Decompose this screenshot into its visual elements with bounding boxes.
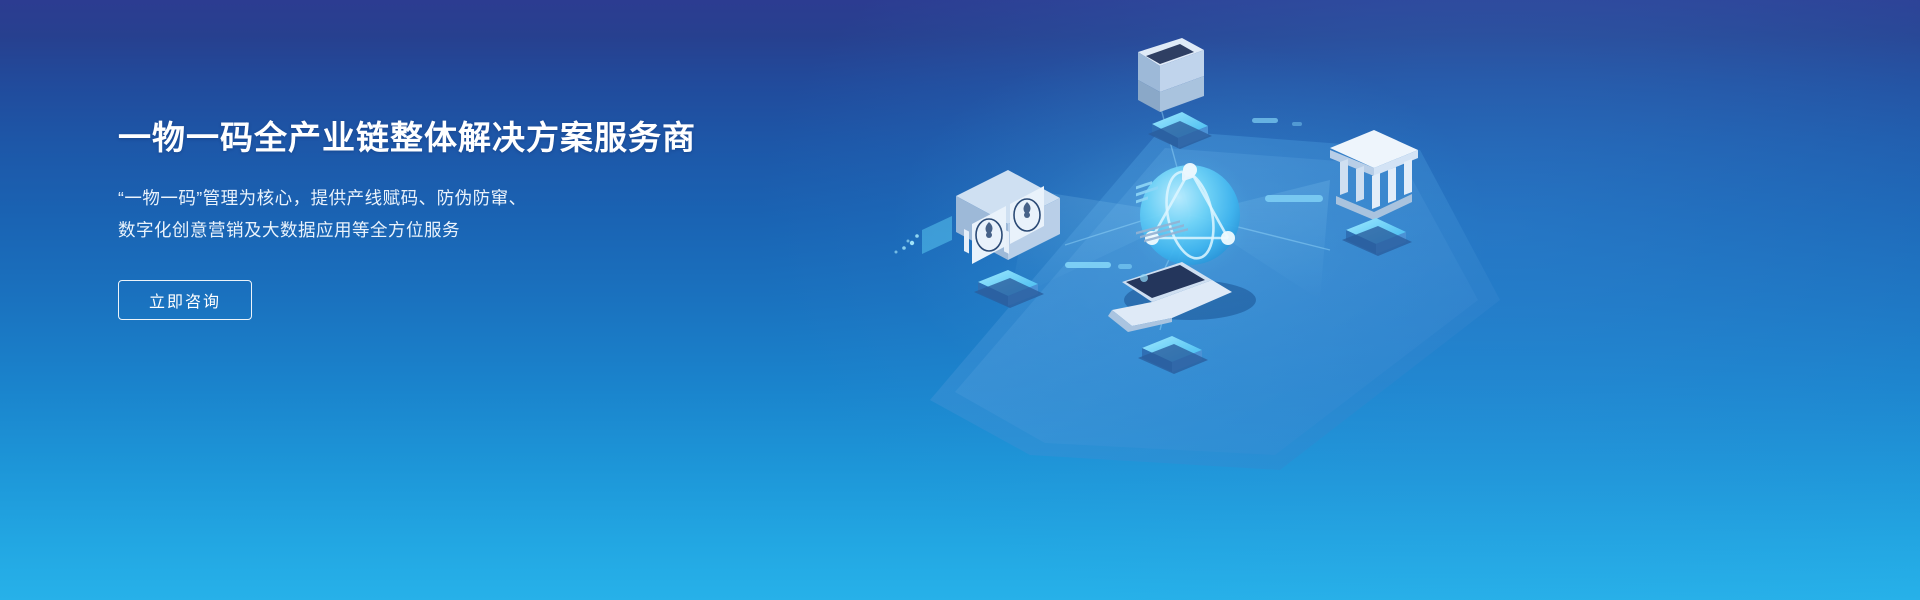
hero-subtitle: “一物一码”管理为核心，提供产线赋码、防伪防窜、 数字化创意营销及大数据应用等全… (118, 182, 818, 246)
page-title: 一物一码全产业链整体解决方案服务商 (118, 118, 818, 158)
hero-banner: 一物一码全产业链整体解决方案服务商 “一物一码”管理为核心，提供产线赋码、防伪防… (0, 0, 1920, 600)
hero-copy: 一物一码全产业链整体解决方案服务商 “一物一码”管理为核心，提供产线赋码、防伪防… (118, 118, 818, 320)
hero-illustration (860, 0, 1580, 600)
subtitle-line-1: “一物一码”管理为核心，提供产线赋码、防伪防窜、 (118, 182, 818, 214)
subtitle-line-2: 数字化创意营销及大数据应用等全方位服务 (118, 214, 818, 246)
consult-now-button[interactable]: 立即咨询 (118, 280, 252, 320)
